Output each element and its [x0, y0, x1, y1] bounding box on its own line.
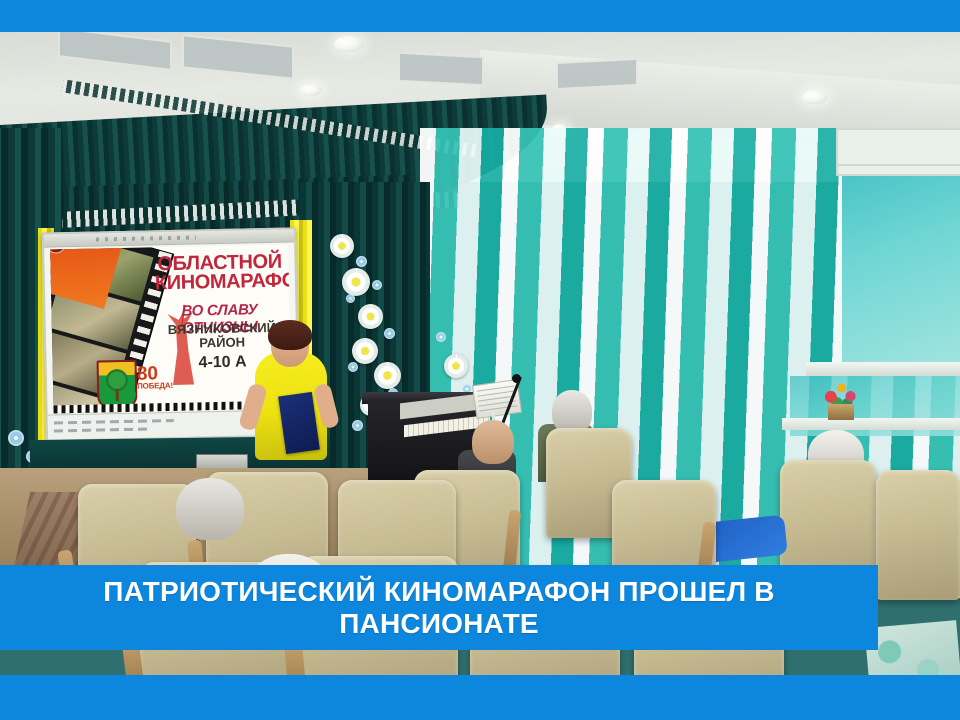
poster-title: ОБЛАСТНОЙ КИНОМАРАФОН: [154, 253, 285, 294]
daisy-flower-decoration: [358, 304, 383, 329]
anniversary-word: ПОБЕДА!: [137, 382, 173, 390]
blue-flower-decoration: [346, 294, 355, 303]
blue-flower-decoration: [356, 256, 367, 267]
audience-quilt: [864, 620, 960, 675]
ceiling-panel: [398, 52, 484, 87]
caption-text: ПАТРИОТИЧЕСКИЙ КИНОМАРАФОН ПРОШЕЛ В ПАНС…: [0, 576, 878, 639]
window-sill: [806, 362, 960, 376]
daisy-flower-decoration: [342, 268, 370, 296]
ceiling-spotlight: [334, 36, 364, 52]
bottom-brand-bar: [0, 675, 960, 720]
window-glass: [842, 172, 960, 362]
daisy-flower-decoration: [444, 354, 468, 378]
ceiling-spotlight: [300, 84, 322, 96]
ceiling-spotlight: [802, 90, 828, 104]
toolbar-icons: [96, 235, 196, 241]
poster-title-line-2: КИНОМАРАФОН: [155, 272, 285, 294]
blue-flower-decoration: [436, 332, 446, 342]
blue-flower-decoration: [372, 280, 382, 290]
blue-flower-decoration: [348, 362, 358, 372]
daisy-flower-decoration: [330, 234, 354, 258]
presenter-hair: [268, 320, 312, 350]
window-transom: [836, 128, 960, 168]
blue-flower-decoration: [384, 328, 395, 339]
daisy-flower-decoration: [352, 338, 378, 364]
flower-pot: [828, 404, 854, 420]
status-text: [54, 427, 150, 432]
audience-member-head: [472, 420, 514, 464]
window-frame: [836, 164, 960, 176]
ceiling-panel: [556, 58, 638, 90]
tree-trunk-icon: [116, 389, 119, 401]
window-sill-lower: [782, 418, 960, 430]
blue-flower-decoration: [352, 420, 363, 431]
audience-chair: [876, 470, 960, 600]
caption-banner: ПАТРИОТИЧЕСКИЙ КИНОМАРАФОН ПРОШЕЛ В ПАНС…: [0, 565, 878, 650]
daisy-flower-decoration: [374, 362, 401, 389]
status-text: [54, 419, 174, 425]
microphone-icon: [512, 374, 521, 383]
district-coat-of-arms-icon: [97, 360, 138, 409]
top-brand-bar: [0, 0, 960, 32]
audience-member-head: [176, 478, 244, 540]
blue-flower-decoration: [8, 430, 24, 446]
screenshot-root: 80 ПОБЕДА! ОБЛАСТНОЙ КИНОМАРАФОН ВО СЛАВ…: [0, 0, 960, 720]
